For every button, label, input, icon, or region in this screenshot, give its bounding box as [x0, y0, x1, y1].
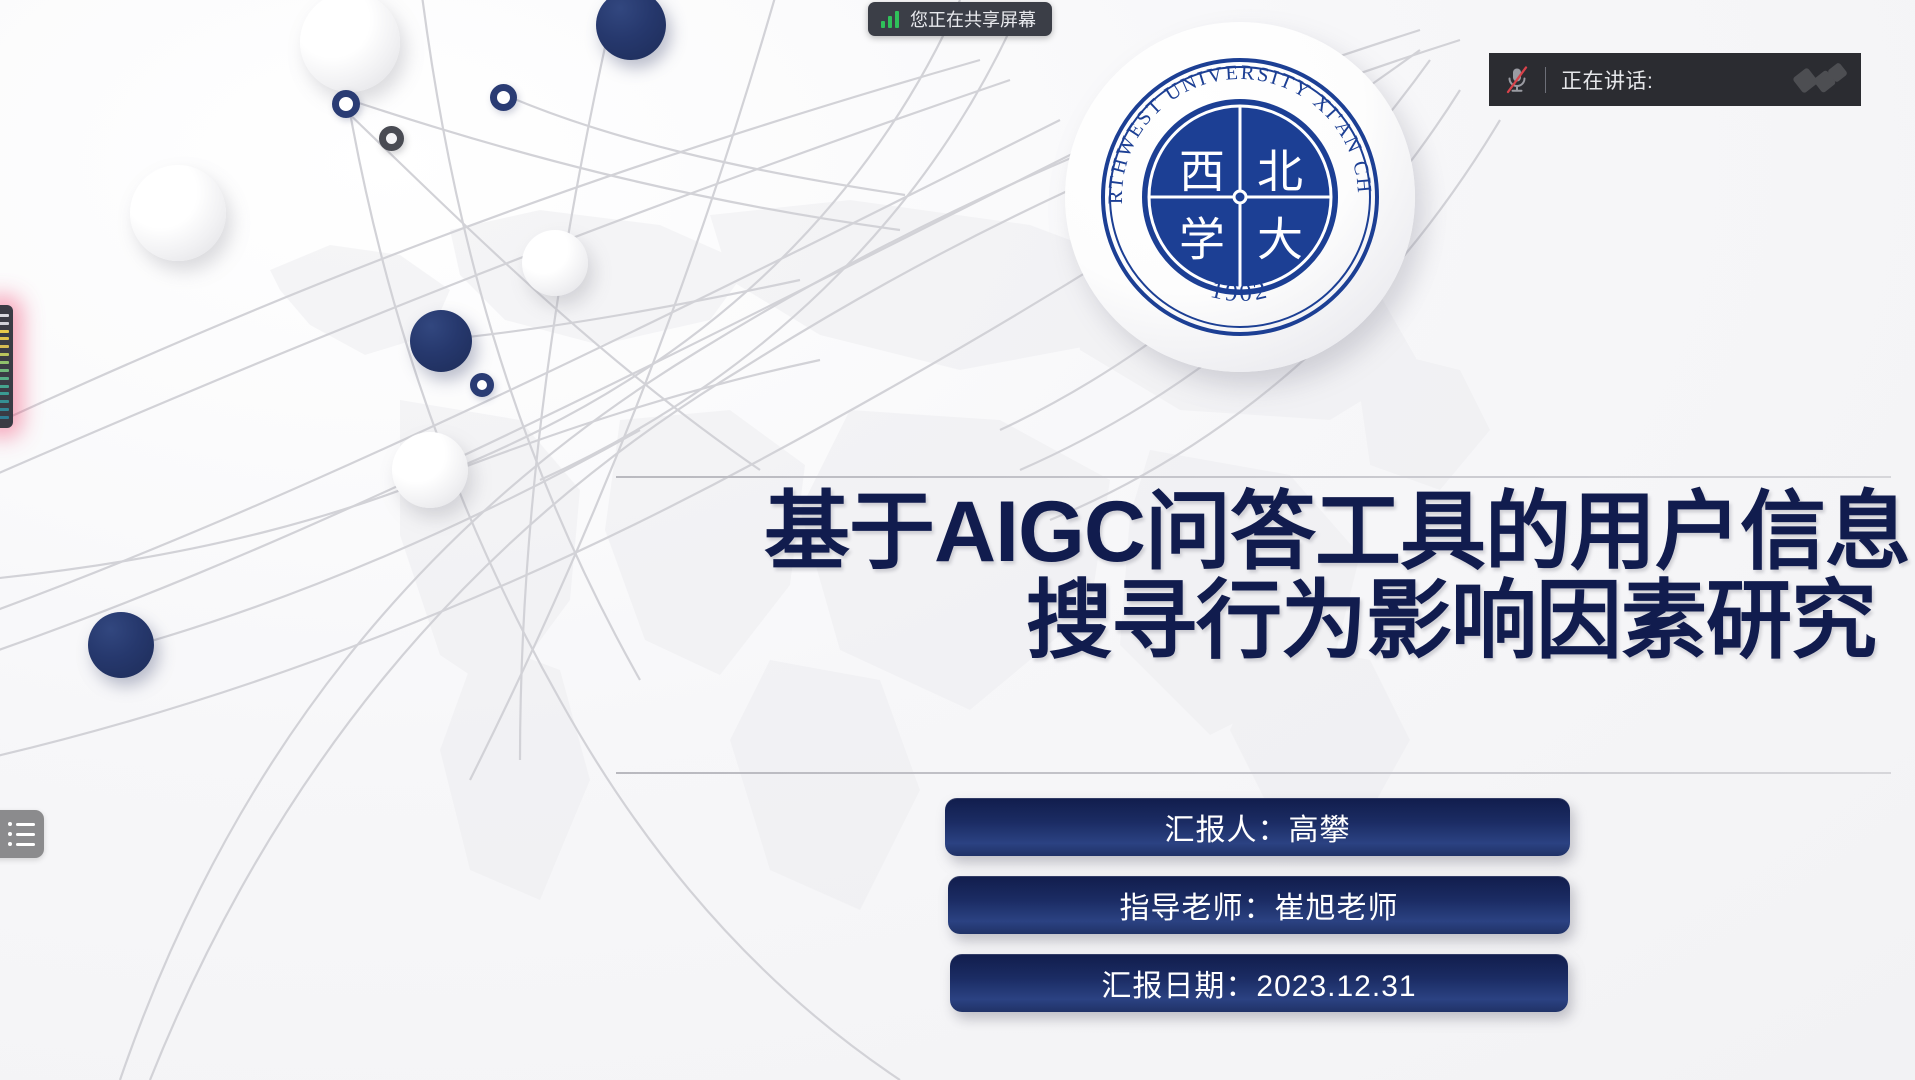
- title-line-1: 基于AIGC问答工具的用户信息: [764, 484, 1910, 580]
- decor-ring-navy-3: [470, 373, 494, 397]
- decor-ring-navy-2: [490, 84, 517, 111]
- list-row: [8, 842, 44, 846]
- speaker-bar-separator: [1545, 67, 1546, 93]
- recording-level-indicator[interactable]: [0, 305, 13, 428]
- decor-sphere-4: [392, 432, 468, 508]
- page-title: 基于AIGC问答工具的用户信息 搜寻行为影响因素研究: [560, 488, 1910, 665]
- svg-text:学: 学: [1179, 213, 1225, 267]
- decor-node-navy-2: [410, 310, 472, 372]
- diamond-watermark-icon: [1790, 61, 1848, 99]
- university-seal-icon: 西 北 学 大 NORTHWEST UNIVERSITY XI'AN CHINA…: [1090, 47, 1390, 347]
- presenter-info-list: 汇报人：高攀 指导老师：崔旭老师 汇报日期：2023.12.31: [945, 798, 1575, 1012]
- mic-muted-glyph: [1504, 65, 1530, 95]
- title-divider-bottom: [616, 772, 1891, 774]
- decor-ring-navy-1: [332, 90, 360, 118]
- list-menu-icon[interactable]: [0, 810, 44, 858]
- signal-bars-icon: [881, 11, 899, 28]
- mic-muted-icon[interactable]: [1489, 65, 1545, 95]
- active-speaker-bar[interactable]: 正在讲话:: [1489, 53, 1861, 106]
- university-logo: 西 北 学 大 NORTHWEST UNIVERSITY XI'AN CHINA…: [1065, 22, 1415, 372]
- speaker-bar-label: 正在讲话:: [1561, 65, 1653, 95]
- title-divider-top: [616, 476, 1891, 478]
- svg-text:大: 大: [1257, 213, 1303, 267]
- advisor-name-bar: 指导老师：崔旭老师: [948, 876, 1570, 934]
- presentation-slide: 西 北 学 大 NORTHWEST UNIVERSITY XI'AN CHINA…: [0, 0, 1915, 1080]
- decor-node-navy-3: [88, 612, 154, 678]
- decor-ring-grey-1: [379, 126, 404, 151]
- svg-text:西: 西: [1179, 145, 1225, 199]
- svg-text:北: 北: [1257, 145, 1303, 199]
- list-row: [8, 832, 44, 836]
- decor-sphere-3: [522, 230, 588, 296]
- svg-text:1902: 1902: [1208, 276, 1272, 307]
- decor-node-navy-1: [596, 0, 666, 60]
- list-row: [8, 822, 44, 826]
- presenter-name-bar: 汇报人：高攀: [945, 798, 1570, 856]
- screen-sharing-banner[interactable]: 您正在共享屏幕: [868, 2, 1052, 36]
- sharing-banner-label: 您正在共享屏幕: [910, 6, 1036, 32]
- decor-sphere-1: [300, 0, 400, 92]
- decor-sphere-2: [130, 165, 226, 261]
- report-date-bar: 汇报日期：2023.12.31: [950, 954, 1568, 1012]
- title-line-2: 搜寻行为影响因素研究: [560, 577, 1910, 666]
